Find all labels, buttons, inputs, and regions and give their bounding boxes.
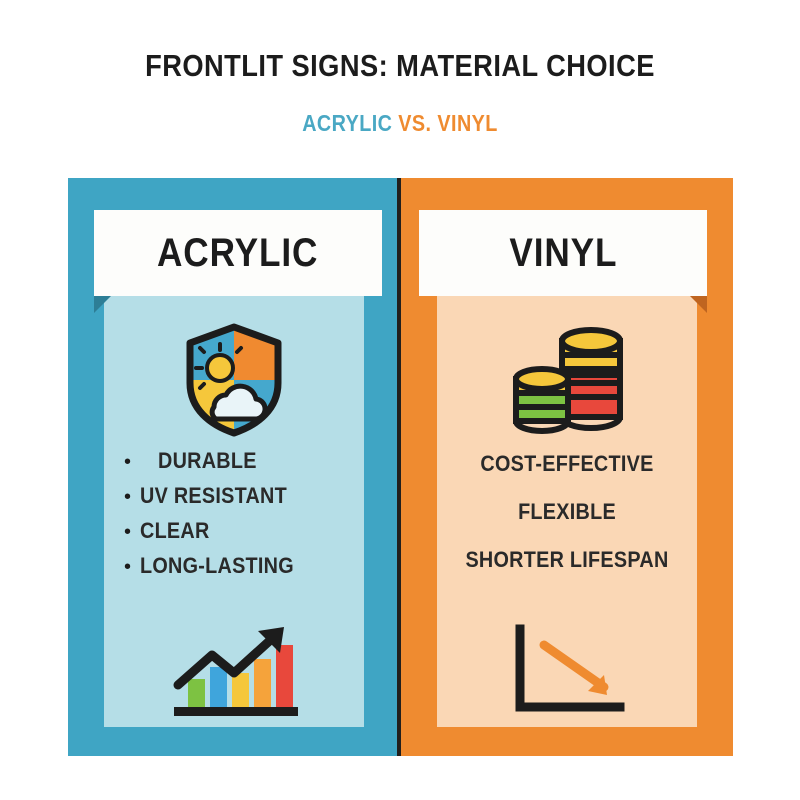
- growth-bar-chart-icon: [104, 623, 364, 719]
- panel-vinyl[interactable]: COST-EFFECTIVE FLEXIBLE SHORTER LIFESPAN…: [401, 178, 733, 756]
- banner-acrylic: ACRYLIC: [94, 210, 382, 296]
- bullet-icon: •: [124, 557, 140, 577]
- feature-list-vinyl: COST-EFFECTIVE FLEXIBLE SHORTER LIFESPAN: [437, 451, 697, 595]
- page-title: FRONTLIT SIGNS: MATERIAL CHOICE: [48, 48, 752, 84]
- feature-label: UV RESISTANT: [140, 483, 287, 509]
- bullet-icon: •: [124, 487, 140, 507]
- subtitle-vinyl: VS. VINYL: [392, 110, 497, 136]
- list-item: • LONG-LASTING: [124, 553, 364, 579]
- feature-list-acrylic: • DURABLE • UV RESISTANT • CLEAR • LONG-…: [104, 448, 364, 588]
- feature-label: FLEXIBLE: [450, 499, 684, 525]
- banner-label: ACRYLIC: [157, 231, 318, 276]
- feature-label: SHORTER LIFESPAN: [450, 547, 684, 573]
- declining-arrow-chart-icon: [437, 623, 697, 719]
- list-item: • CLEAR: [124, 518, 364, 544]
- card-acrylic: • DURABLE • UV RESISTANT • CLEAR • LONG-…: [104, 296, 364, 727]
- card-vinyl: COST-EFFECTIVE FLEXIBLE SHORTER LIFESPAN: [437, 296, 697, 727]
- banner-fold-shadow: [94, 296, 111, 313]
- feature-label: LONG-LASTING: [140, 553, 294, 579]
- coin-stacks-icon: [437, 321, 697, 439]
- infographic-canvas: FRONTLIT SIGNS: MATERIAL CHOICE ACRYLIC …: [0, 0, 800, 800]
- feature-label: COST-EFFECTIVE: [450, 451, 684, 477]
- feature-label: CLEAR: [140, 518, 210, 544]
- subtitle-acrylic: ACRYLIC: [302, 110, 392, 136]
- feature-label: DURABLE: [158, 448, 257, 474]
- bullet-icon: •: [124, 522, 140, 542]
- list-item: • UV RESISTANT: [124, 483, 364, 509]
- list-item: • DURABLE: [124, 448, 364, 474]
- panel-acrylic[interactable]: • DURABLE • UV RESISTANT • CLEAR • LONG-…: [68, 178, 400, 756]
- bullet-icon: •: [124, 452, 140, 472]
- page-subtitle: ACRYLIC VS. VINYL: [56, 110, 744, 137]
- banner-fold-shadow: [690, 296, 707, 313]
- banner-vinyl: VINYL: [419, 210, 707, 296]
- banner-label: VINYL: [509, 231, 617, 276]
- weather-shield-icon: [104, 321, 364, 439]
